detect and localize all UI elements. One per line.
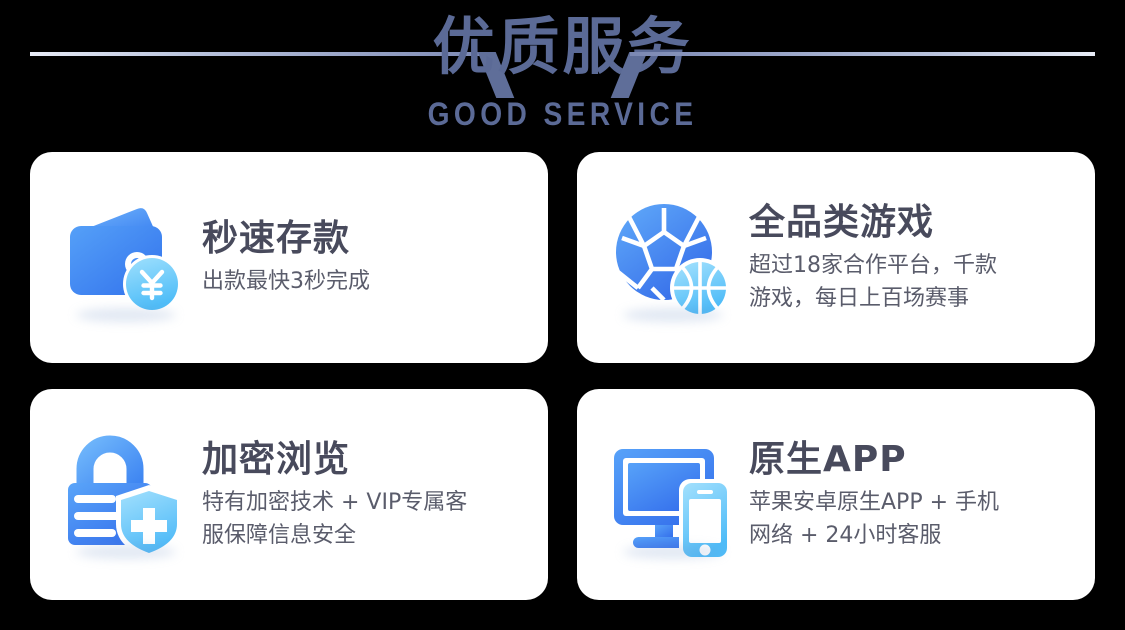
card-desc-line: 服保障信息安全 — [202, 519, 530, 552]
icon-shadow — [623, 545, 723, 559]
card-desc-line: 超过18家合作平台，千款 — [749, 249, 1077, 282]
page-header: 优质服务 GOOD SERVICE — [0, 0, 1125, 150]
icon-shadow — [623, 308, 723, 322]
page-title: 优质服务 — [0, 8, 1125, 86]
card-desc-line: 网络 + 24小时客服 — [749, 519, 1077, 552]
header-rule-right — [630, 52, 1095, 56]
service-card-grid: 秒速存款 出款最快3秒完成 — [30, 152, 1095, 600]
card-title: 加密浏览 — [202, 438, 530, 482]
soccer-basketball-icon — [607, 192, 739, 324]
card-text-block: 秒速存款 出款最快3秒完成 — [192, 217, 530, 298]
icon-shadow — [76, 545, 176, 559]
card-description: 超过18家合作平台，千款 游戏，每日上百场赛事 — [749, 249, 1077, 315]
wallet-yen-icon — [60, 192, 192, 324]
card-text-block: 全品类游戏 超过18家合作平台，千款 游戏，每日上百场赛事 — [739, 201, 1077, 315]
service-card-deposit[interactable]: 秒速存款 出款最快3秒完成 — [30, 152, 548, 363]
card-desc-line: 苹果安卓原生APP + 手机 — [749, 486, 1077, 519]
lock-shield-icon — [60, 429, 192, 561]
card-title: 全品类游戏 — [749, 201, 1077, 245]
icon-shadow — [76, 308, 176, 322]
card-title: 秒速存款 — [202, 217, 530, 261]
card-title: 原生APP — [749, 438, 1077, 482]
card-text-block: 原生APP 苹果安卓原生APP + 手机 网络 + 24小时客服 — [739, 438, 1077, 552]
card-description: 苹果安卓原生APP + 手机 网络 + 24小时客服 — [749, 486, 1077, 552]
card-text-block: 加密浏览 特有加密技术 + VIP专属客 服保障信息安全 — [192, 438, 530, 552]
service-card-games[interactable]: 全品类游戏 超过18家合作平台，千款 游戏，每日上百场赛事 — [577, 152, 1095, 363]
service-card-encryption[interactable]: 加密浏览 特有加密技术 + VIP专属客 服保障信息安全 — [30, 389, 548, 600]
card-description: 特有加密技术 + VIP专属客 服保障信息安全 — [202, 486, 530, 552]
card-desc-line: 特有加密技术 + VIP专属客 — [202, 486, 530, 519]
card-desc-line: 出款最快3秒完成 — [202, 265, 530, 298]
page-subtitle: GOOD SERVICE — [68, 96, 1058, 132]
card-description: 出款最快3秒完成 — [202, 265, 530, 298]
service-card-native-app[interactable]: 原生APP 苹果安卓原生APP + 手机 网络 + 24小时客服 — [577, 389, 1095, 600]
monitor-phone-icon — [607, 429, 739, 561]
card-desc-line: 游戏，每日上百场赛事 — [749, 282, 1077, 315]
